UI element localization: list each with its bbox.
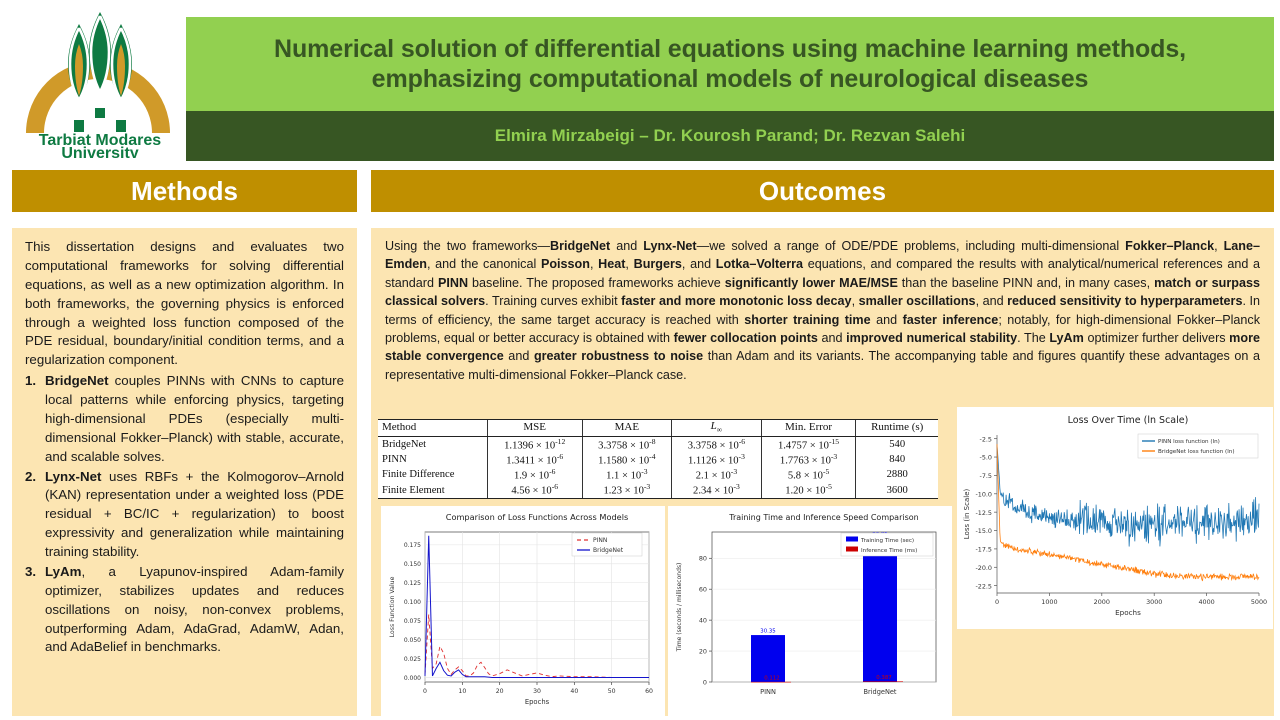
outcomes-emphasis: Poisson (541, 257, 590, 271)
list-item-text: Lynx-Net uses RBFs + the Kolmogorov–Arno… (45, 468, 344, 562)
chart-label: 0.025 (404, 656, 421, 663)
outcomes-text: baseline. The proposed frameworks achiev… (468, 276, 725, 290)
poster-title: Numerical solution of differential equat… (260, 34, 1200, 95)
loss-over-time-chart: Loss Over Time (ln Scale)-2.5-5.0-7.5-10… (957, 407, 1273, 629)
chart-label: -10.0 (975, 490, 992, 498)
chart-label: Epochs (525, 698, 550, 706)
bar (751, 682, 791, 683)
table-cell: 4.56 × 10-6 (487, 483, 582, 499)
chart-label: -17.5 (975, 546, 992, 554)
chart-label: 0 (423, 688, 427, 695)
outcomes-emphasis: PINN (438, 276, 468, 290)
outcomes-emphasis: reduced sensitivity to hyperparameters (1007, 294, 1242, 308)
table-cell: 2880 (856, 467, 938, 482)
chart-label: 40 (699, 617, 707, 625)
table-cell: 1.3411 × 10-6 (487, 452, 582, 467)
chart-label: -2.5 (980, 435, 992, 443)
chart-label: Epochs (1115, 608, 1141, 617)
outcomes-emphasis: LyAm (1049, 331, 1084, 345)
list-item-number: 2. (25, 468, 45, 562)
outcomes-emphasis: Lotka–Volterra (716, 257, 803, 271)
logo-line2: University (61, 145, 138, 158)
figure-loss-over-time: Loss Over Time (ln Scale)-2.5-5.0-7.5-10… (957, 407, 1273, 629)
outcomes-text: , (1214, 239, 1224, 253)
chart-label: 30.35 (760, 629, 775, 635)
table-column-header: L∞ (672, 420, 762, 437)
list-item-body: , a Lyapunov-inspired Adam-family optimi… (45, 564, 344, 655)
results-table: MethodMSEMAEL∞Min. ErrorRuntime (s) Brid… (378, 419, 938, 499)
chart-label: BridgeNet (863, 688, 896, 696)
legend-swatch (846, 537, 858, 542)
outcomes-text: , and the canonical (427, 257, 541, 271)
list-item-keyword: BridgeNet (45, 373, 109, 388)
table-body: BridgeNet1.1396 × 10-123.3758 × 10-83.37… (378, 437, 938, 499)
outcomes-emphasis: Heat (598, 257, 625, 271)
outcomes-text: , (852, 294, 859, 308)
figure-loss-comparison: Comparison of Loss Functions Across Mode… (381, 506, 665, 716)
list-item: 3. LyAm, a Lyapunov-inspired Adam-family… (25, 563, 344, 657)
chart-label: 0.175 (404, 542, 421, 549)
outcomes-emphasis: significantly lower MAE/MSE (725, 276, 898, 290)
chart-label: 20 (699, 647, 707, 655)
chart-label: 1000 (1041, 598, 1057, 606)
table-cell: 1.1 × 10-3 (582, 467, 672, 482)
outcomes-emphasis: faster inference (903, 313, 999, 327)
table-header: MethodMSEMAEL∞Min. ErrorRuntime (s) (378, 420, 938, 437)
chart-label: 0.125 (404, 580, 421, 587)
outcomes-text: optimizer further delivers (1084, 331, 1229, 345)
table-cell: 1.4757 × 10-15 (761, 437, 856, 453)
table-cell: Finite Element (378, 483, 487, 499)
chart-label: 50 (608, 688, 616, 695)
table-cell: 1.23 × 10-3 (582, 483, 672, 499)
poster-authors: Elmira Mirzabeigi – Dr. Kourosh Parand; … (495, 126, 965, 146)
outcomes-text: . The (1017, 331, 1049, 345)
list-item: 1. BridgeNet couples PINNs with CNNs to … (25, 372, 344, 466)
outcomes-text: . Training curves exhibit (485, 294, 621, 308)
chart-label: 2000 (1094, 598, 1110, 606)
table-cell: 840 (856, 452, 938, 467)
list-item-text: BridgeNet couples PINNs with CNNs to cap… (45, 372, 344, 466)
figure-time-comparison: Training Time and Inference Speed Compar… (668, 506, 952, 716)
poster-header: Tarbiat Modares University Numerical sol… (0, 0, 1280, 163)
section-title-methods: Methods (131, 178, 238, 204)
results-table-figure: MethodMSEMAEL∞Min. ErrorRuntime (s) Brid… (378, 419, 938, 499)
outcomes-emphasis: Fokker–Planck (1125, 239, 1214, 253)
chart-label: BridgeNet (593, 547, 624, 554)
table-column-header: MAE (582, 420, 672, 437)
chart-label: 40 (570, 688, 578, 695)
table-cell: 2.34 × 10-3 (672, 483, 762, 499)
methods-paragraph: This dissertation designs and evaluates … (25, 238, 344, 370)
chart-label: Time (seconds / milliseconds) (676, 563, 683, 653)
table-column-header: MSE (487, 420, 582, 437)
poster-root: Tarbiat Modares University Numerical sol… (0, 0, 1280, 720)
chart-label: 0.112 (764, 675, 779, 681)
table-cell: 540 (856, 437, 938, 453)
chart-label: 20 (496, 688, 504, 695)
table-cell: 1.1126 × 10-3 (672, 452, 762, 467)
chart-label: -15.0 (975, 527, 992, 535)
chart-label: 80 (699, 555, 707, 563)
legend-swatch (846, 547, 858, 552)
table-cell: 1.9 × 10-6 (487, 467, 582, 482)
poster-title-line2: emphasizing computational models of neur… (372, 65, 1089, 93)
chart-label: 60 (699, 586, 707, 594)
outcomes-text: and (610, 239, 643, 253)
chart-label: Training Time (sec) (860, 538, 914, 544)
outcomes-text: , and (682, 257, 716, 271)
chart-label: PINN loss function (ln) (1158, 439, 1220, 445)
bar (863, 538, 897, 682)
table-cell: PINN (378, 452, 487, 467)
chart-label: -7.5 (980, 472, 992, 480)
table-cell: 3.3758 × 10-6 (672, 437, 762, 453)
table-cell: 3600 (856, 483, 938, 499)
outcomes-emphasis: smaller oscillations (859, 294, 976, 308)
poster-title-bar: Numerical solution of differential equat… (186, 17, 1274, 111)
table-cell: 1.1580 × 10-4 (582, 452, 672, 467)
outcomes-text: —we solved a range of ODE/PDE problems, … (697, 239, 1126, 253)
table-column-header: Min. Error (761, 420, 856, 437)
list-item-text: LyAm, a Lyapunov-inspired Adam-family op… (45, 563, 344, 657)
table-row: BridgeNet1.1396 × 10-123.3758 × 10-83.37… (378, 437, 938, 453)
table-cell: 1.1396 × 10-12 (487, 437, 582, 453)
table-row: PINN1.3411 × 10-61.1580 × 10-41.1126 × 1… (378, 452, 938, 467)
chart-label: Comparison of Loss Functions Across Mode… (446, 512, 629, 522)
chart-label: 0.100 (404, 599, 421, 606)
outcomes-text: and (871, 313, 903, 327)
bar (863, 681, 903, 682)
table-row: Finite Difference1.9 × 10-61.1 × 10-32.1… (378, 467, 938, 482)
table-column-header: Method (378, 420, 487, 437)
outcomes-emphasis: improved numerical stability (846, 331, 1017, 345)
chart-label: 0.050 (404, 637, 421, 644)
chart-label: Loss Over Time (ln Scale) (1068, 415, 1189, 426)
section-title-outcomes: Outcomes (759, 178, 886, 204)
outcomes-emphasis: fewer collocation points (674, 331, 818, 345)
outcomes-emphasis: shorter training time (744, 313, 870, 327)
chart-label: 30 (533, 688, 541, 695)
section-header-outcomes: Outcomes (371, 170, 1274, 212)
chart-label: 3000 (1146, 598, 1162, 606)
chart-label: 0.000 (404, 675, 421, 682)
chart-label: PINN (760, 688, 776, 696)
outcomes-text: and (818, 331, 846, 345)
table-row: Finite Element4.56 × 10-61.23 × 10-32.34… (378, 483, 938, 499)
chart-label: 0 (703, 678, 707, 686)
chart-label: -12.5 (975, 509, 992, 517)
chart-label: Loss (in Scale) (963, 488, 971, 539)
list-item-number: 1. (25, 372, 45, 466)
chart-label: 0.150 (404, 561, 421, 568)
table-cell: 3.3758 × 10-8 (582, 437, 672, 453)
list-item-keyword: Lynx-Net (45, 469, 101, 484)
methods-list: 1. BridgeNet couples PINNs with CNNs to … (25, 372, 344, 657)
chart-label: BridgeNet loss function (ln) (1158, 449, 1235, 455)
table-cell: Finite Difference (378, 467, 487, 482)
chart-label: 0 (995, 598, 999, 606)
outcomes-text: , (590, 257, 598, 271)
list-item: 2. Lynx-Net uses RBFs + the Kolmogorov–A… (25, 468, 344, 562)
university-logo: Tarbiat Modares University (16, 8, 184, 158)
chart-label: -22.5 (975, 582, 992, 590)
chart-label: Training Time and Inference Speed Compar… (728, 513, 918, 522)
chart-label: Inference Time (ms) (861, 548, 917, 554)
time-comparison-chart: Training Time and Inference Speed Compar… (668, 506, 952, 716)
outcomes-text: than the baseline PINN and, in many case… (898, 276, 1154, 290)
chart-label: 4000 (1198, 598, 1214, 606)
table-cell: 1.20 × 10-5 (761, 483, 856, 499)
chart-label: -20.0 (975, 564, 992, 572)
chart-label: Loss Function Value (389, 576, 396, 637)
table-cell: BridgeNet (378, 437, 487, 453)
outcomes-emphasis: Lynx-Net (643, 239, 696, 253)
chart-label: PINN (593, 537, 607, 544)
outcomes-text: and (504, 349, 534, 363)
poster-title-line1: Numerical solution of differential equat… (274, 35, 1186, 63)
table-cell: 5.8 × 10-5 (761, 467, 856, 482)
outcomes-paragraph: Using the two frameworks—BridgeNet and L… (385, 237, 1260, 384)
outcomes-text: , and (976, 294, 1008, 308)
outcomes-emphasis: Burgers (634, 257, 682, 271)
chart-label: 0.075 (404, 618, 421, 625)
loss-comparison-chart: Comparison of Loss Functions Across Mode… (381, 506, 665, 716)
chart-label: -5.0 (980, 454, 992, 462)
outcomes-text: Using the two frameworks— (385, 239, 550, 253)
panel-methods: This dissertation designs and evaluates … (12, 228, 357, 716)
table-cell: 2.1 × 10-3 (672, 467, 762, 482)
list-item-keyword: LyAm (45, 564, 81, 579)
outcomes-emphasis: greater robustness to noise (534, 349, 703, 363)
chart-label: 5000 (1251, 598, 1267, 606)
section-header-methods: Methods (12, 170, 357, 212)
outcomes-emphasis: faster and more monotonic loss decay (621, 294, 851, 308)
chart-label: 60 (645, 688, 653, 695)
table-cell: 1.7763 × 10-3 (761, 452, 856, 467)
outcomes-emphasis: BridgeNet (550, 239, 610, 253)
outcomes-text: , (625, 257, 633, 271)
poster-authors-bar: Elmira Mirzabeigi – Dr. Kourosh Parand; … (186, 111, 1274, 161)
table-header-row: MethodMSEMAEL∞Min. ErrorRuntime (s) (378, 420, 938, 437)
table-column-header: Runtime (s) (856, 420, 938, 437)
chart-label: 10 (458, 688, 466, 695)
list-item-number: 3. (25, 563, 45, 657)
chart-label: 0.387 (876, 675, 891, 681)
